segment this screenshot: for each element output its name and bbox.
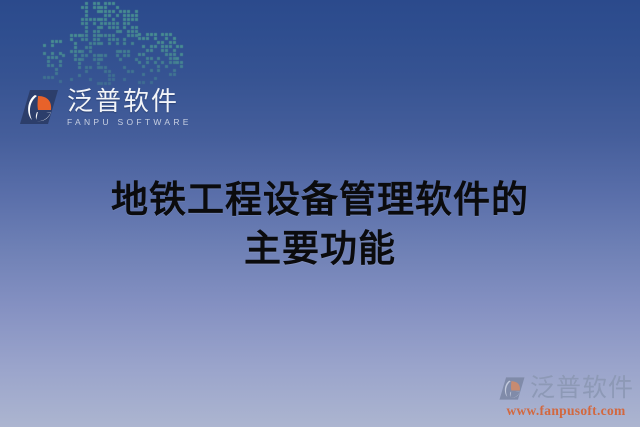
watermark-url: www.fanpusoft.com bbox=[506, 403, 625, 419]
slide-title-line-2: 主要功能 bbox=[0, 225, 640, 274]
site-watermark: 泛普软件 www.fanpusoft.com bbox=[498, 376, 634, 419]
brand-name-en: FANPU SOFTWARE bbox=[67, 118, 192, 127]
watermark-logo-row: 泛普软件 bbox=[498, 376, 634, 401]
pixel-skyline-decoration bbox=[40, 0, 185, 86]
slide-canvas: 泛普软件 FANPU SOFTWARE 地铁工程设备管理软件的 主要功能 泛普软… bbox=[0, 0, 640, 427]
brand-name-cn: 泛普软件 bbox=[67, 88, 192, 114]
pixel-skyline-canvas bbox=[40, 0, 185, 86]
watermark-fanpu-logo-icon bbox=[498, 376, 526, 401]
brand-logo: 泛普软件 FANPU SOFTWARE bbox=[18, 88, 192, 127]
brand-wordmark: 泛普软件 FANPU SOFTWARE bbox=[67, 88, 192, 127]
slide-title-line-1: 地铁工程设备管理软件的 bbox=[0, 176, 640, 225]
fanpu-logo-icon bbox=[18, 88, 60, 126]
watermark-brand-name: 泛普软件 bbox=[530, 376, 634, 401]
slide-title: 地铁工程设备管理软件的 主要功能 bbox=[0, 176, 640, 274]
